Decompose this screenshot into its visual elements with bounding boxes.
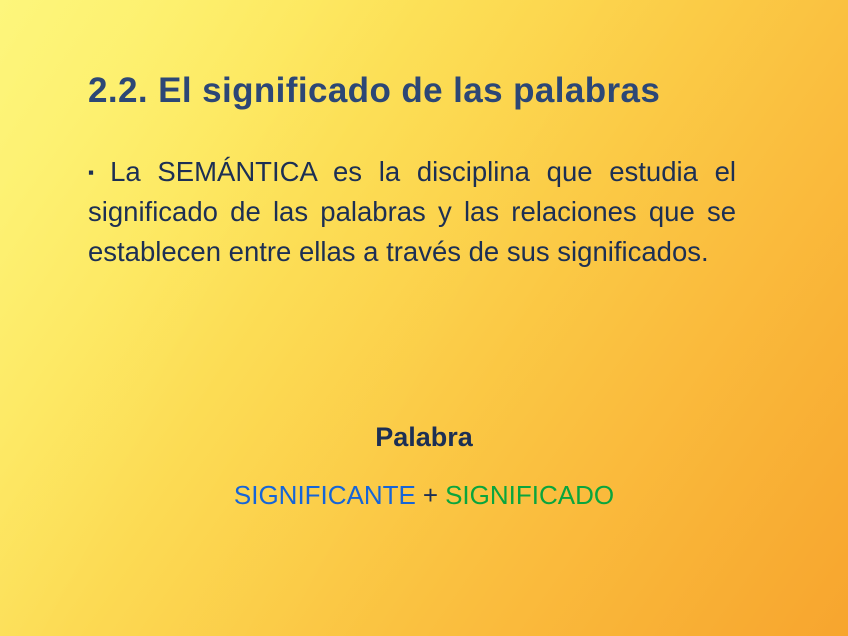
slide-canvas: 2.2. El significado de las palabras ▪La … bbox=[0, 0, 848, 636]
square-bullet-icon: ▪ bbox=[88, 163, 103, 182]
center-heading: Palabra bbox=[0, 422, 848, 453]
formula-right-term: SIGNIFICADO bbox=[445, 480, 614, 510]
formula-left-term: SIGNIFICANTE bbox=[234, 480, 416, 510]
body-paragraph-text: La SEMÁNTICA es la disciplina que estudi… bbox=[88, 156, 736, 267]
body-text-block: ▪La SEMÁNTICA es la disciplina que estud… bbox=[88, 152, 736, 272]
body-paragraph: ▪La SEMÁNTICA es la disciplina que estud… bbox=[88, 152, 736, 272]
formula-line: SIGNIFICANTE+SIGNIFICADO bbox=[0, 480, 848, 511]
formula-operator: + bbox=[423, 480, 438, 510]
slide-title: 2.2. El significado de las palabras bbox=[88, 72, 788, 111]
